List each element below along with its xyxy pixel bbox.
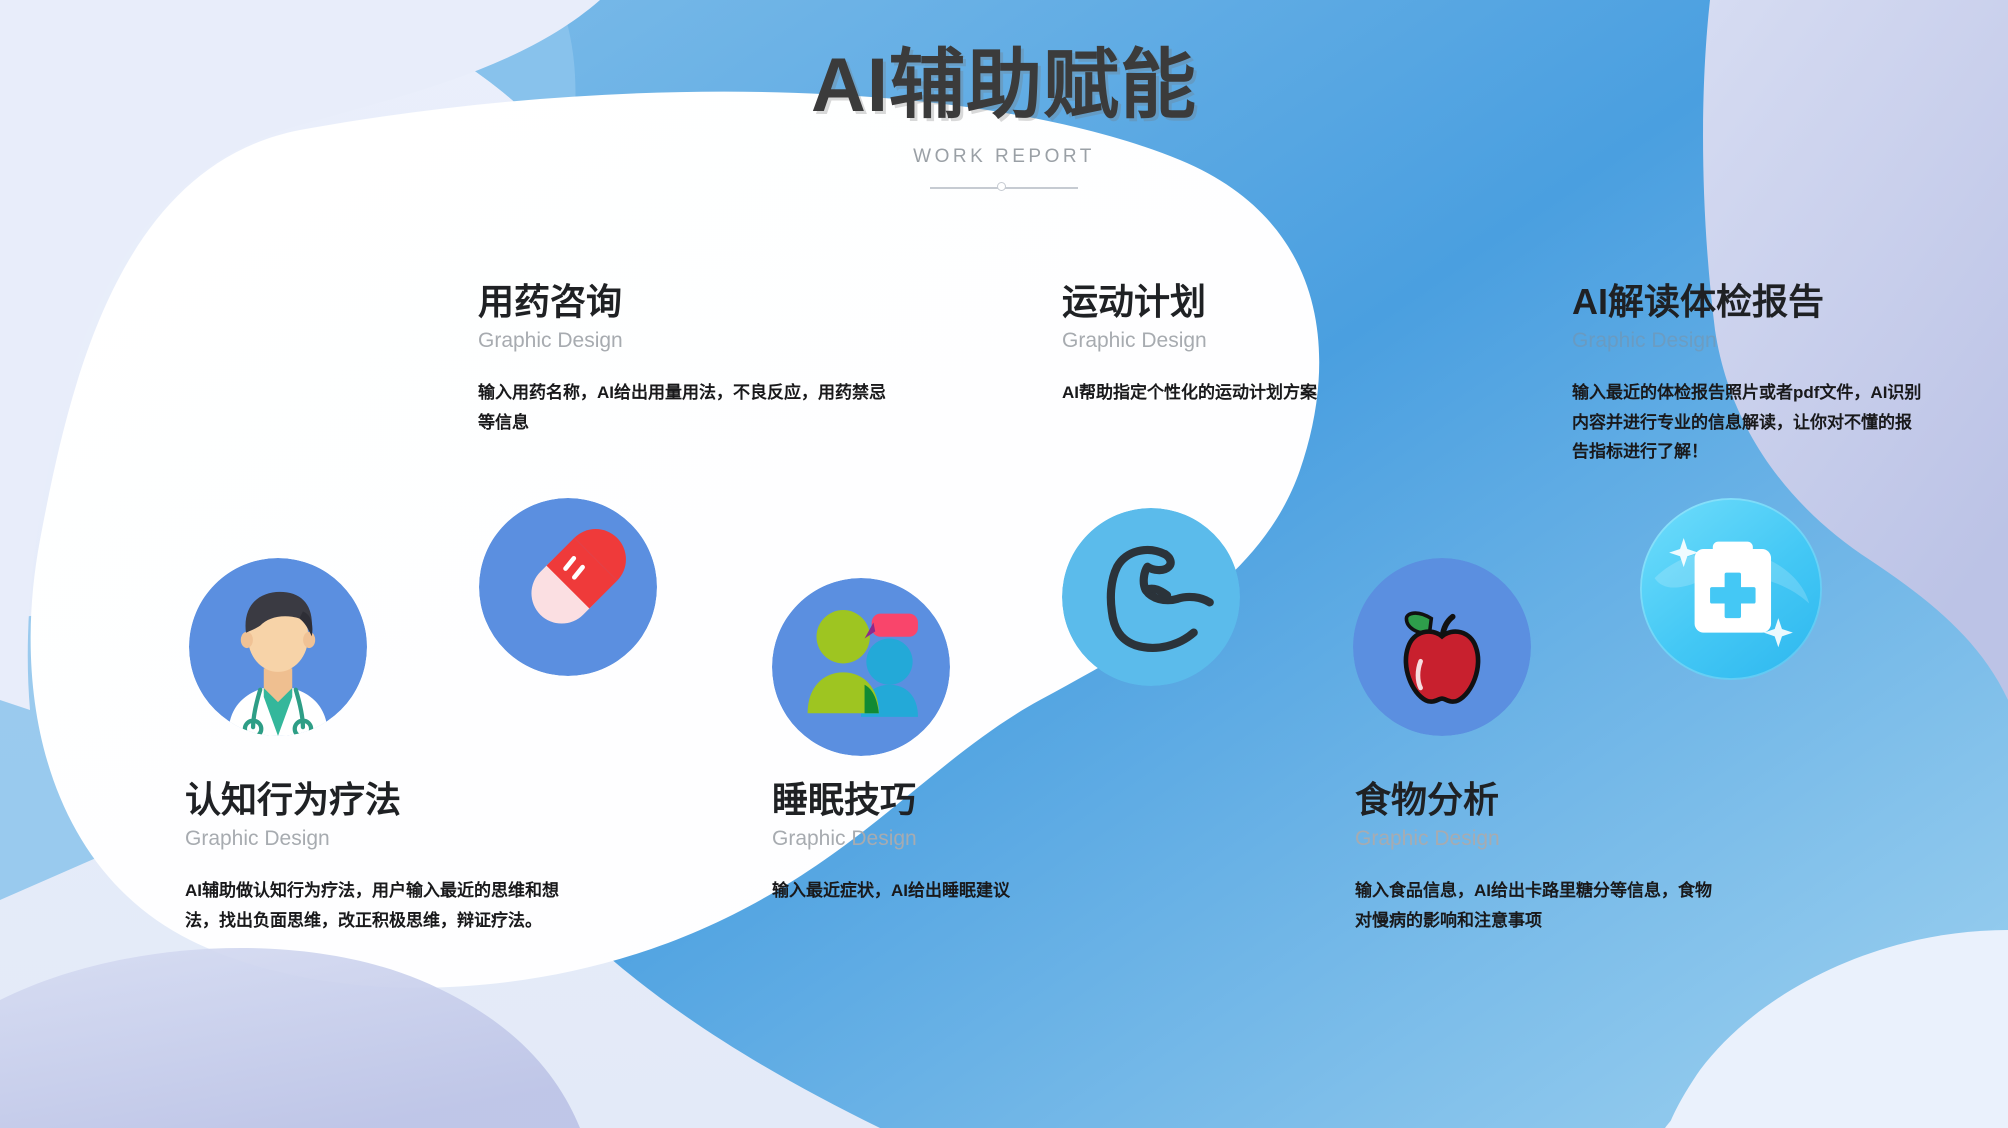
card-title: AI解读体检报告	[1572, 282, 1922, 322]
page-subtitle: WORK REPORT	[0, 146, 2008, 168]
card-body: AI帮助指定个性化的运动计划方案	[1062, 378, 1392, 407]
page-title: AI辅助赋能	[0, 48, 2008, 124]
people-conversation-icon[interactable]	[772, 578, 950, 756]
card-subtitle: Graphic Design	[1355, 827, 1715, 850]
doctor-icon[interactable]	[189, 558, 367, 736]
card-body: 输入最近的体检报告照片或者pdf文件，AI识别内容并进行专业的信息解读，让你对不…	[1572, 378, 1922, 466]
card-body: 输入用药名称，AI给出用量用法，不良反应，用药禁忌等信息	[478, 378, 898, 436]
card-subtitle: Graphic Design	[1572, 329, 1922, 352]
card-cbt[interactable]: 认知行为疗法 Graphic Design AI辅助做认知行为疗法，用户输入最近…	[185, 780, 575, 935]
card-title: 睡眠技巧	[772, 780, 1102, 820]
slide-header: AI辅助赋能 WORK REPORT	[0, 48, 2008, 195]
card-body: 输入最近症状，AI给出睡眠建议	[772, 876, 1102, 905]
card-title: 运动计划	[1062, 282, 1392, 322]
divider-dot-icon	[997, 182, 1006, 191]
muscle-icon[interactable]	[1062, 508, 1240, 686]
card-subtitle: Graphic Design	[1062, 329, 1392, 352]
card-report[interactable]: AI解读体检报告 Graphic Design 输入最近的体检报告照片或者pdf…	[1572, 282, 1922, 466]
header-divider	[930, 181, 1078, 195]
apple-icon[interactable]	[1353, 558, 1531, 736]
card-subtitle: Graphic Design	[185, 827, 575, 850]
card-food[interactable]: 食物分析 Graphic Design 输入食品信息，AI给出卡路里糖分等信息，…	[1355, 780, 1715, 935]
card-title: 食物分析	[1355, 780, 1715, 820]
card-exercise[interactable]: 运动计划 Graphic Design AI帮助指定个性化的运动计划方案	[1062, 282, 1392, 408]
card-medication[interactable]: 用药咨询 Graphic Design 输入用药名称，AI给出用量用法，不良反应…	[478, 282, 898, 437]
card-body: 输入食品信息，AI给出卡路里糖分等信息，食物对慢病的影响和注意事项	[1355, 876, 1715, 934]
medical-clipboard-icon[interactable]	[1640, 498, 1822, 680]
card-subtitle: Graphic Design	[478, 329, 898, 352]
card-subtitle: Graphic Design	[772, 827, 1102, 850]
card-body: AI辅助做认知行为疗法，用户输入最近的思维和想法，找出负面思维，改正积极思维，辩…	[185, 876, 575, 934]
card-title: 用药咨询	[478, 282, 898, 322]
card-sleep[interactable]: 睡眠技巧 Graphic Design 输入最近症状，AI给出睡眠建议	[772, 780, 1102, 906]
pill-icon[interactable]	[479, 498, 657, 676]
slide-canvas: AI辅助赋能 WORK REPORT 用药咨询 Graphic Design 输…	[0, 0, 2008, 1128]
card-title: 认知行为疗法	[185, 780, 575, 820]
